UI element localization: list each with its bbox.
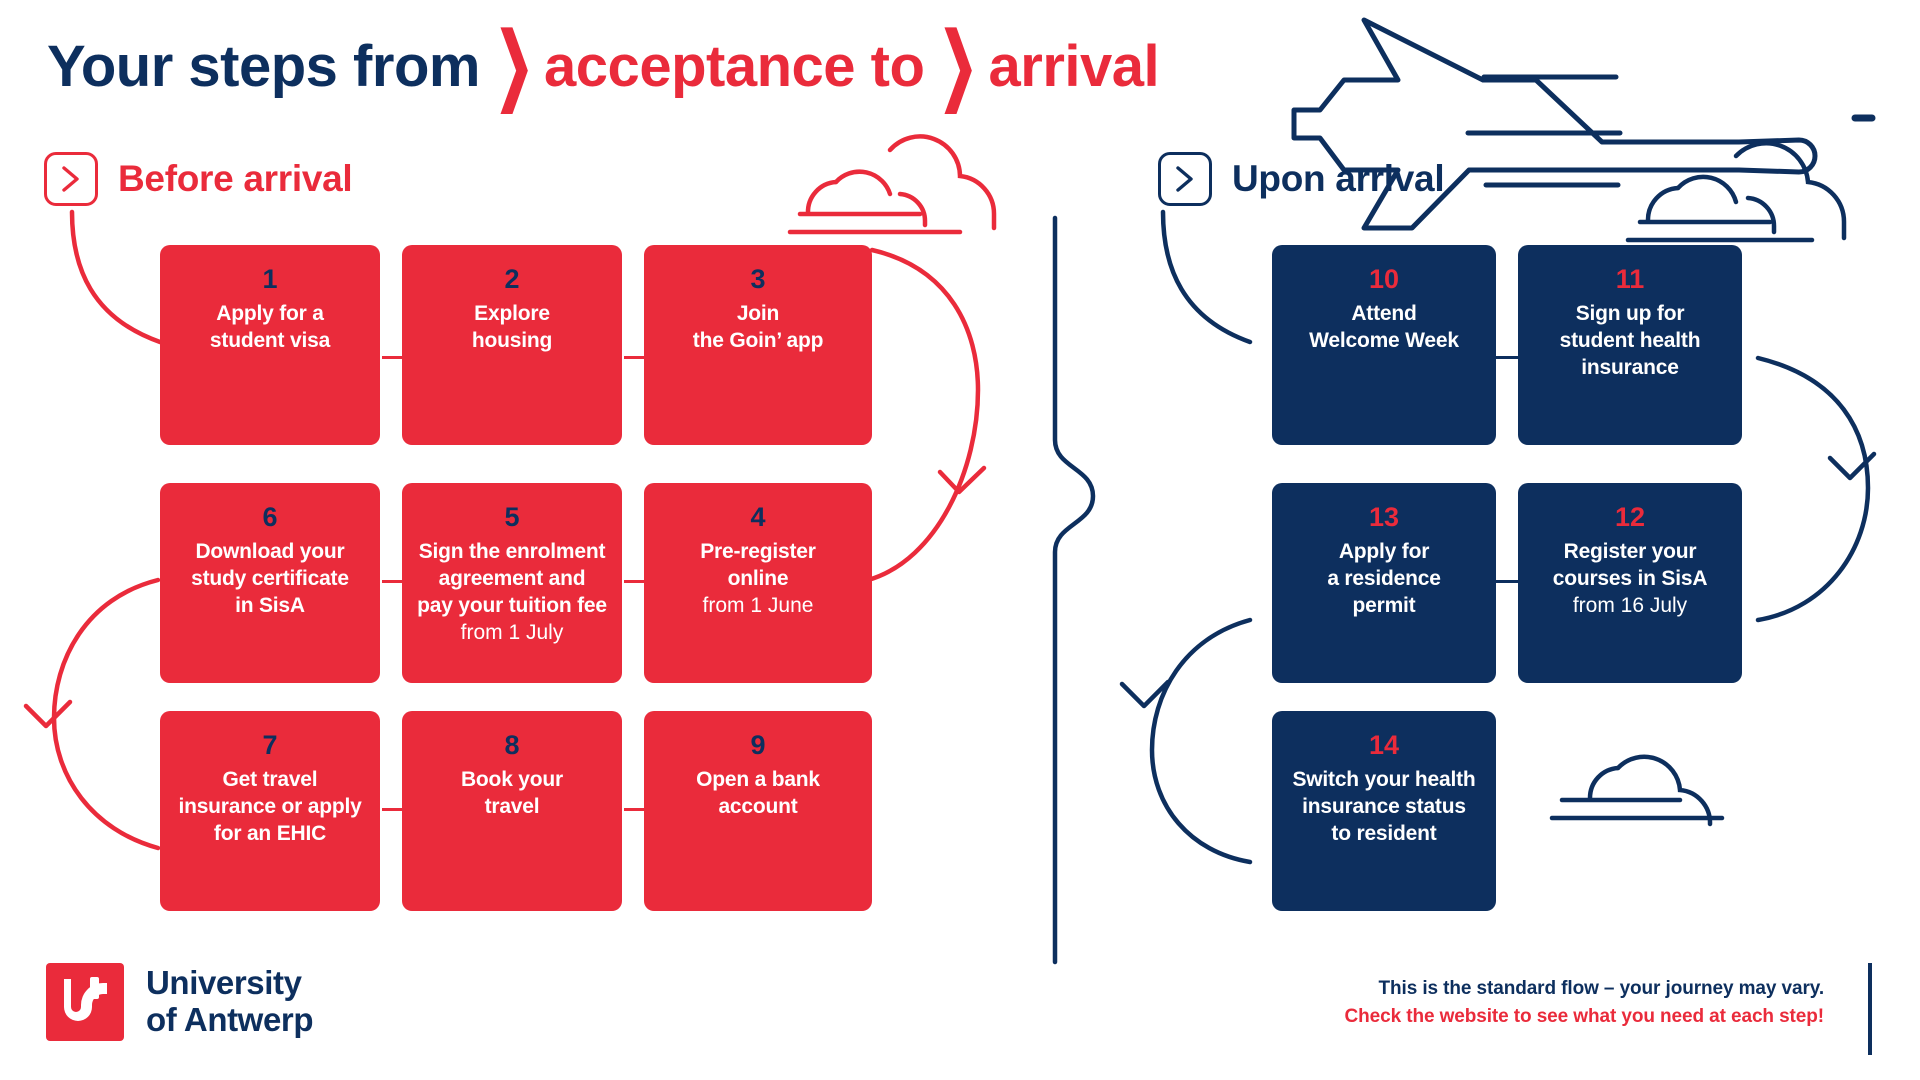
step-card-6[interactable]: 6 Download your study certificate in Sis…	[160, 483, 380, 683]
divider-line	[1055, 218, 1093, 962]
step-subtext: from 16 July	[1565, 593, 1695, 620]
step-card-9[interactable]: 9 Open a bank account	[644, 711, 872, 911]
title-part-1: Your steps from	[47, 34, 480, 99]
step-number: 3	[750, 265, 765, 293]
step-card-4[interactable]: 4 Pre-register online from 1 June	[644, 483, 872, 683]
section-label-upon-arrival: Upon arrival	[1232, 158, 1444, 200]
infographic-canvas: Your steps from❯acceptance to❯arrival Be…	[0, 0, 1920, 1080]
step-card-1[interactable]: 1 Apply for a student visa	[160, 245, 380, 445]
step-number: 11	[1616, 265, 1645, 293]
step-number: 10	[1369, 265, 1399, 293]
step-card-8[interactable]: 8 Book your travel	[402, 711, 622, 911]
step-text: Register your courses in SisA	[1545, 539, 1716, 593]
step-text: Sign the enrolment agreement and pay you…	[409, 539, 615, 620]
connector-6-5	[382, 580, 402, 583]
step-text: Open a bank account	[688, 767, 828, 821]
page-title: Your steps from❯acceptance to❯arrival	[47, 38, 1159, 96]
university-of-antwerp-monogram-icon	[46, 963, 124, 1041]
flow-arrow-navy-right	[1830, 454, 1874, 478]
step-text: Explore housing	[464, 301, 560, 355]
step-number: 12	[1615, 503, 1645, 531]
step-card-7[interactable]: 7 Get travel insurance or apply for an E…	[160, 711, 380, 911]
step-text: Switch your health insurance status to r…	[1284, 767, 1483, 848]
connector-1-2	[382, 356, 402, 359]
step-card-3[interactable]: 3 Join the Goin’ app	[644, 245, 872, 445]
flow-arrow-navy-left	[1122, 682, 1168, 706]
step-subtext: from 1 July	[453, 620, 572, 647]
step-number: 8	[504, 731, 519, 759]
step-text: Apply for a residence permit	[1319, 539, 1448, 620]
title-part-2: acceptance to	[544, 34, 924, 99]
footer-line-1: This is the standard flow – your journey…	[1345, 975, 1824, 1003]
step-text: Attend Welcome Week	[1301, 301, 1467, 355]
chevron-right-icon	[44, 152, 98, 206]
cloud-icon-navy	[1628, 143, 1844, 240]
flow-entry-navy	[1163, 212, 1250, 342]
step-card-5[interactable]: 5 Sign the enrolment agreement and pay y…	[402, 483, 622, 683]
step-text: Apply for a student visa	[202, 301, 338, 355]
connector-13-12	[1496, 580, 1518, 583]
step-text: Sign up for student health insurance	[1552, 301, 1709, 382]
cloud-icon-navy-small	[1552, 757, 1722, 824]
step-number: 4	[750, 503, 765, 531]
step-card-11[interactable]: 11 Sign up for student health insurance	[1518, 245, 1742, 445]
cloud-icon-red	[790, 136, 994, 232]
footer-accent-bar	[1868, 963, 1872, 1055]
title-chevron-2-icon: ❯	[939, 23, 977, 107]
step-number: 7	[262, 731, 277, 759]
step-card-2[interactable]: 2 Explore housing	[402, 245, 622, 445]
step-number: 6	[262, 503, 277, 531]
step-number: 2	[504, 265, 519, 293]
chevron-right-icon	[1158, 152, 1212, 206]
step-number: 1	[262, 265, 277, 293]
section-header-upon-arrival: Upon arrival	[1158, 152, 1444, 206]
footer-note: This is the standard flow – your journey…	[1345, 975, 1824, 1030]
step-number: 14	[1369, 731, 1399, 759]
step-text: Book your travel	[453, 767, 571, 821]
step-text: Get travel insurance or apply for an EHI…	[170, 767, 369, 848]
flow-wrap-red-left	[54, 580, 158, 848]
connector-7-8	[382, 808, 402, 811]
section-label-before-arrival: Before arrival	[118, 158, 352, 200]
step-number: 13	[1369, 503, 1399, 531]
connector-2-3	[624, 356, 644, 359]
step-number: 9	[750, 731, 765, 759]
flow-arrow-red-right	[940, 468, 984, 492]
logo-line-2: of Antwerp	[146, 1002, 313, 1039]
step-card-13[interactable]: 13 Apply for a residence permit	[1272, 483, 1496, 683]
connector-8-9	[624, 808, 644, 811]
step-text: Join the Goin’ app	[685, 301, 831, 355]
university-logo[interactable]: University of Antwerp	[46, 963, 313, 1041]
section-header-before-arrival: Before arrival	[44, 152, 352, 206]
footer-line-2[interactable]: Check the website to see what you need a…	[1345, 1003, 1824, 1031]
flow-wrap-navy-left	[1152, 620, 1250, 862]
connector-5-4	[624, 580, 644, 583]
step-card-12[interactable]: 12 Register your courses in SisA from 16…	[1518, 483, 1742, 683]
flow-wrap-navy-right	[1758, 358, 1868, 620]
flow-entry-red	[72, 212, 160, 342]
connector-10-11	[1496, 356, 1518, 359]
step-text: Download your study certificate in SisA	[183, 539, 357, 620]
step-card-14[interactable]: 14 Switch your health insurance status t…	[1272, 711, 1496, 911]
flow-arrow-red-left	[26, 702, 70, 726]
logo-line-1: University	[146, 965, 313, 1002]
university-logo-text: University of Antwerp	[146, 965, 313, 1039]
title-chevron-1-icon: ❯	[495, 23, 533, 107]
step-number: 5	[504, 503, 519, 531]
step-text: Pre-register online	[692, 539, 824, 593]
step-card-10[interactable]: 10 Attend Welcome Week	[1272, 245, 1496, 445]
title-part-3: arrival	[988, 34, 1159, 99]
step-subtext: from 1 June	[695, 593, 822, 620]
flow-wrap-red-right	[868, 250, 978, 580]
